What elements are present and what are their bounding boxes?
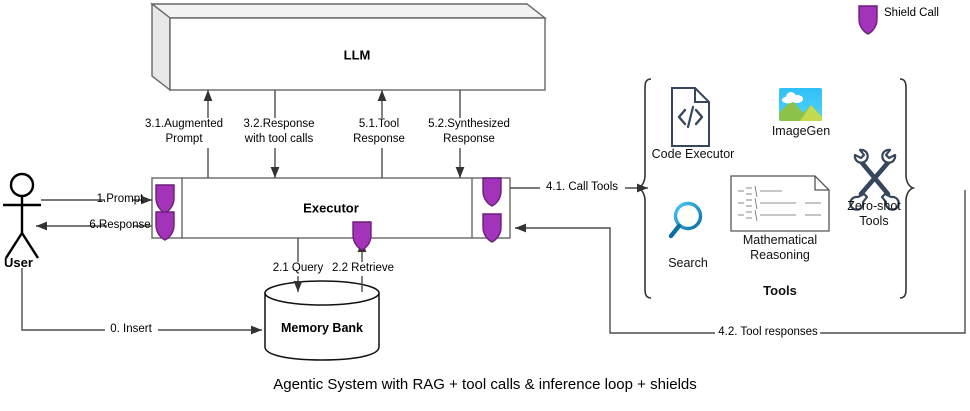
tools-group-label: Tools (763, 283, 797, 298)
memory-bank-label: Memory Bank (281, 321, 363, 335)
code-document-icon (672, 88, 709, 146)
tool-label-math-line2: Reasoning (750, 248, 810, 263)
tool-label-math-line1: Mathematical (743, 233, 817, 248)
tool-label-imagegen: ImageGen (772, 124, 830, 139)
edge-insert (22, 268, 262, 330)
edge-label-augmented-prompt-line1: 3.1.Augmented (145, 118, 223, 132)
edge-label-tool-responses: 4.2. Tool responses (718, 326, 818, 340)
diagram-canvas: LLM Executor Memory Bank User 1.Prompt 6… (0, 0, 970, 411)
edge-label-insert: 0. Insert (110, 323, 152, 337)
diagram-caption: Agentic System with RAG + tool calls & i… (273, 376, 697, 393)
edge-label-augmented-prompt-line2: Prompt (165, 133, 202, 147)
edge-label-tool-response-line2: Response (353, 133, 405, 147)
diagram-svg (0, 0, 970, 411)
llm-label: LLM (344, 48, 371, 63)
tool-label-zeroshot-line2: Tools (859, 214, 888, 229)
tool-label-search: Search (668, 256, 708, 271)
shield-icon-legend (859, 6, 877, 34)
shield-icon-memory (353, 222, 371, 250)
user-label: User (4, 256, 33, 270)
edge-label-response-tool-calls-line1: 3.2.Response (244, 118, 315, 132)
legend-shield-label: Shield Call (884, 7, 939, 19)
edge-label-query: 2.1 Query (273, 262, 324, 276)
tool-label-code-executor: Code Executor (652, 147, 735, 162)
formula-document-icon (731, 176, 829, 231)
edge-label-response-tool-calls-line2: with tool calls (245, 133, 313, 147)
executor-label: Executor (303, 201, 359, 216)
edge-label-retrieve: 2.2 Retrieve (332, 262, 394, 276)
edge-label-synthesized-response-line1: 5.2.Synthesized (428, 118, 510, 132)
magnifier-icon (671, 204, 701, 237)
edge-label-synthesized-response-line2: Response (443, 133, 495, 147)
image-icon (779, 88, 822, 121)
edge-label-call-tools: 4.1. Call Tools (546, 181, 618, 195)
user-figure (3, 174, 41, 258)
tool-label-zeroshot-line1: Zero-shot (847, 199, 901, 214)
edge-label-tool-response-line1: 5.1.Tool (359, 118, 399, 132)
tools-brace-right (900, 79, 913, 298)
edge-label-prompt: 1.Prompt (97, 193, 144, 207)
edge-label-response: 6.Response (89, 219, 150, 233)
